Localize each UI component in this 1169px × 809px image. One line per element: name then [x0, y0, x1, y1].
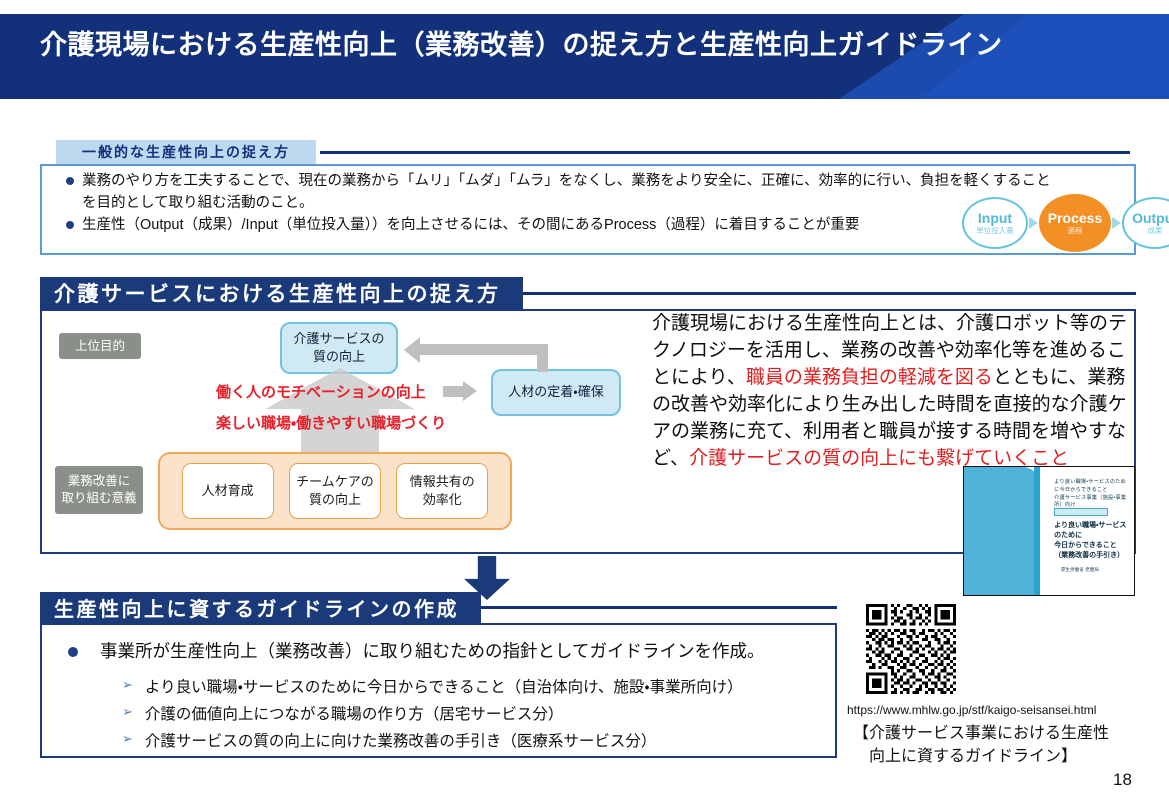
- diagram-orange-item-2-line2: 質の向上: [309, 491, 361, 509]
- doc-cover-spine: [964, 467, 1039, 595]
- chevron-right-icon: ➢: [122, 677, 133, 693]
- diagram-orange-item-2-line1: チームケアの: [296, 473, 374, 491]
- guideline-document-thumbnail: より良い職場・サービスのために今日からできること 介護サービス事業（施設・事業所…: [963, 466, 1135, 596]
- bullet-dot-icon: [66, 221, 74, 229]
- process-label: Process: [1048, 211, 1102, 225]
- resource-caption: 【介護サービス事業における生産性 向上に資するガイドライン】: [853, 723, 1109, 768]
- section2-label: 介護サービスにおける生産性向上の捉え方: [40, 277, 523, 309]
- diagram-tag-improvement-meaning: 業務改善に 取り組む意義: [55, 466, 143, 514]
- section1-rule: [320, 151, 1130, 154]
- diagram-card-service-quality-line1: 介護サービスの: [293, 330, 384, 348]
- diagram-card-staff-retention-text: 人材の定着・確保: [508, 383, 603, 401]
- qr-code-image: [866, 604, 956, 694]
- doc-cover-title-line1: より良い職場・サービスのために: [1054, 522, 1126, 539]
- resource-caption-line1: 【介護サービス事業における生産性: [853, 725, 1109, 742]
- diagram-orange-item-3-line2: 効率化: [423, 491, 462, 509]
- page-number: 18: [1113, 770, 1132, 790]
- input-label: Input: [978, 211, 1012, 225]
- diagram-orange-group: 人材育成 チームケアの 質の向上 情報共有の 効率化: [158, 452, 512, 530]
- output-label: Output: [1132, 211, 1169, 225]
- diagram-tag-improvement-meaning-line1: 業務改善に: [68, 473, 131, 490]
- diagram-card-service-quality: 介護サービスの 質の向上: [280, 322, 398, 374]
- page-title: 介護現場における生産性向上（業務改善）の捉え方と生産性向上ガイドライン: [40, 0, 1003, 85]
- section3-label: 生産性向上に資するガイドラインの作成: [40, 592, 481, 623]
- diagram-card-service-quality-line2: 質の向上: [313, 348, 365, 366]
- section1-bullet-1: 業務のやり方を工夫することで、現在の業務から「ムリ」「ムダ」「ムラ」をなくし、業…: [66, 170, 1086, 215]
- output-sublabel: 成果: [1148, 227, 1163, 235]
- section3-item-1: ➢ より良い職場・サービスのために今日からできること（自治体向け、施設・事業所向…: [122, 675, 743, 697]
- chevron-right-icon: ➢: [122, 704, 133, 720]
- doc-cover-footer: 厚生労働省 老健局: [1061, 567, 1099, 573]
- input-ellipse: Input 単位投入量: [962, 197, 1028, 249]
- section2-rule: [523, 292, 1136, 295]
- diagram-orange-item-1-line1: 人材育成: [202, 482, 254, 500]
- section1-bullet-2: 生産性（Output（成果）/Input（単位投入量））を向上させるには、その間…: [66, 214, 966, 236]
- section3-lead-text: 事業所が生産性向上（業務改善）に取り組むための指針としてガイドラインを作成。: [100, 638, 764, 663]
- doc-cover-top-note-line2: 介護サービス事業（施設・事業所）向け: [1054, 495, 1126, 509]
- diagram-red-text-line2: 楽しい職場・働きやすい職場づくり: [216, 412, 446, 433]
- section3-item-2-text: 介護の価値向上につながる職場の作り方（居宅サービス分）: [145, 702, 564, 724]
- doc-cover-top-note-line1: より良い職場・サービスのために今日からできること: [1054, 479, 1126, 493]
- arrow-right-icon: [1112, 217, 1121, 229]
- arrow-head-icon: [463, 381, 477, 401]
- section2-description: 介護現場における生産性向上とは、介護ロボット等のテクノロジーを活用し、業務の改善…: [652, 311, 1142, 473]
- section3-item-1-text: より良い職場・サービスのために今日からできること（自治体向け、施設・事業所向け）: [145, 675, 743, 697]
- doc-cover-title-line3: （業務改善の手引き）: [1054, 552, 1124, 559]
- diagram-card-staff-retention: 人材の定着・確保: [491, 369, 621, 416]
- arrow-right-motivation-to-retention: [443, 381, 477, 401]
- resource-url[interactable]: https://www.mhlw.go.jp/stf/kaigo-seisans…: [847, 703, 1096, 717]
- bullet-dot-icon: [66, 177, 74, 185]
- doc-cover-badge: [1054, 508, 1108, 516]
- doc-cover-title: より良い職場・サービスのために 今日からできること （業務改善の手引き）: [1054, 521, 1131, 562]
- section1-bullet-1-text: 業務のやり方を工夫することで、現在の業務から「ムリ」「ムダ」「ムラ」をなくし、業…: [82, 170, 1051, 215]
- doc-cover-title-line2: 今日からできること: [1054, 542, 1117, 549]
- resource-caption-line2: 向上に資するガイドライン】: [853, 748, 1077, 765]
- diagram-tag-upper-goal: 上位目的: [59, 333, 141, 359]
- chevron-right-icon: ➢: [122, 731, 133, 747]
- section1-bullet-2-text: 生産性（Output（成果）/Input（単位投入量））を向上させるには、その間…: [82, 214, 859, 236]
- diagram-red-text-line1: 働く人のモチベーションの向上: [216, 381, 426, 402]
- section3-lead-bullet: 事業所が生産性向上（業務改善）に取り組むための指針としてガイドラインを作成。: [68, 638, 828, 663]
- process-ellipse: Process 過程: [1039, 194, 1111, 252]
- input-sublabel: 単位投入量: [976, 227, 1014, 235]
- arrow-left-head-icon: [404, 337, 420, 363]
- bullet-dot-icon: [68, 647, 78, 657]
- output-ellipse: Output 成果: [1122, 197, 1169, 249]
- section3-item-2: ➢ 介護の価値向上につながる職場の作り方（居宅サービス分）: [122, 702, 563, 724]
- arrow-right-icon: [1029, 217, 1038, 229]
- arrow-shaft: [443, 386, 463, 397]
- section1-label: 一般的な生産性向上の捉え方: [56, 140, 316, 164]
- elbow-arrow-horizontal-segment: [420, 344, 548, 355]
- diagram-orange-item-3-line1: 情報共有の: [410, 473, 475, 491]
- section3-item-3: ➢ 介護サービスの質の向上に向けた業務改善の手引き（医療系サービス分）: [122, 729, 656, 751]
- section3-rule: [481, 606, 837, 609]
- diagram-tag-upper-goal-text: 上位目的: [75, 338, 125, 355]
- diagram-orange-item-2: チームケアの 質の向上: [289, 463, 381, 519]
- doc-cover-spine-accent: [1034, 467, 1040, 595]
- slide-canvas: 介護現場における生産性向上（業務改善）の捉え方と生産性向上ガイドライン 一般的な…: [0, 0, 1169, 809]
- doc-cover-top-note: より良い職場・サービスのために今日からできること 介護サービス事業（施設・事業所…: [1054, 479, 1129, 510]
- diagram-orange-item-1: 人材育成: [182, 463, 274, 519]
- input-process-output-diagram: Input 単位投入量 Process 過程 Output 成果: [962, 194, 1169, 252]
- process-sublabel: 過程: [1068, 227, 1083, 235]
- section3-item-3-text: 介護サービスの質の向上に向けた業務改善の手引き（医療系サービス分）: [145, 729, 657, 751]
- section2-description-highlight1: 職員の業務負担の軽減を図る: [746, 367, 993, 388]
- diagram-orange-item-3: 情報共有の 効率化: [396, 463, 488, 519]
- diagram-tag-improvement-meaning-line2: 取り組む意義: [61, 490, 136, 507]
